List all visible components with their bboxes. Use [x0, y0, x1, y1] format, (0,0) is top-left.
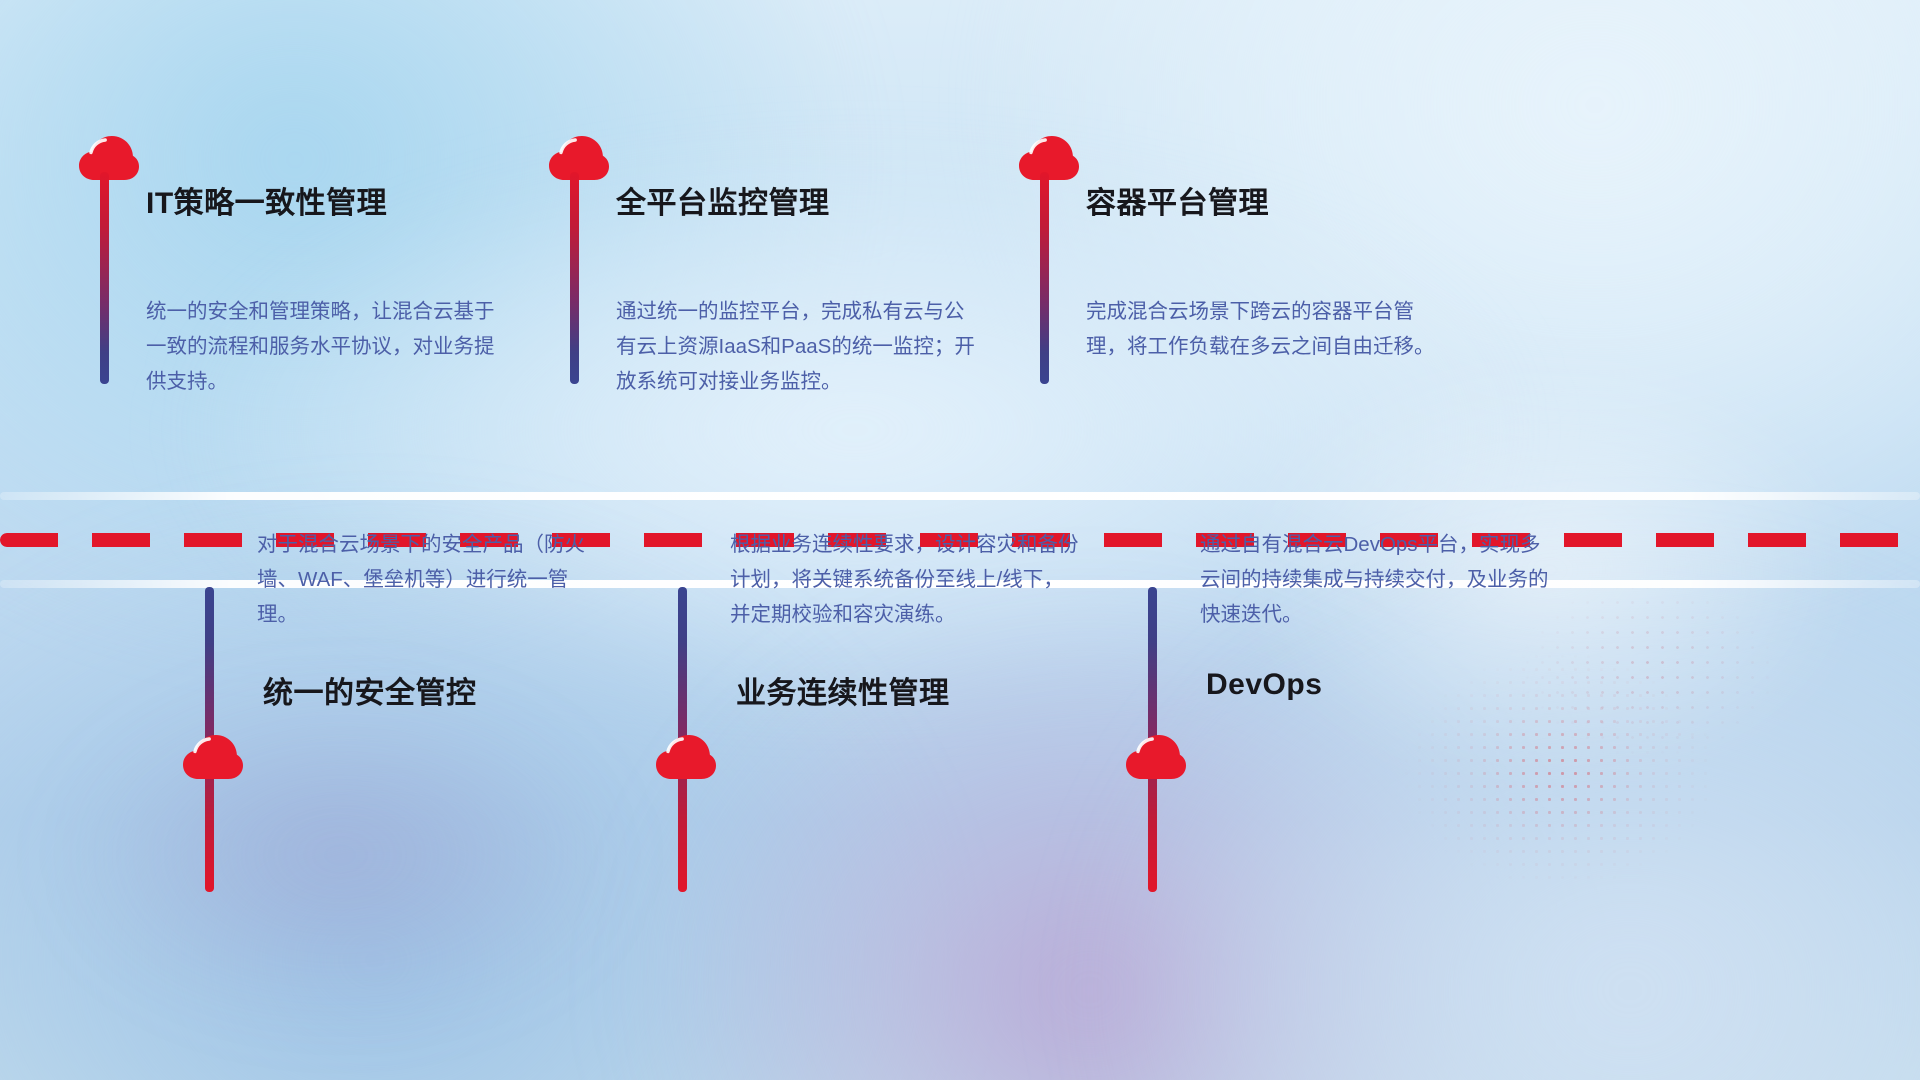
feature-heading: DevOps — [1206, 668, 1322, 702]
feature-body: 通过统一的监控平台，完成私有云与公有云上资源IaaS和PaaS的统一监控；开放系… — [616, 294, 984, 399]
feature-heading: 业务连续性管理 — [736, 668, 950, 712]
feature-card-it-policy-consistency[interactable]: IT策略一致性管理 统一的安全和管理策略，让混合云基于一致的流程和服务水平协议，… — [78, 0, 598, 492]
top-feature-row: IT策略一致性管理 统一的安全和管理策略，让混合云基于一致的流程和服务水平协议，… — [0, 0, 1920, 492]
stem-connector — [570, 172, 579, 384]
feature-body: 完成混合云场景下跨云的容器平台管理，将工作负载在多云之间自由迁移。 — [1086, 294, 1452, 364]
divider-rule-top — [0, 492, 1920, 500]
feature-heading: IT策略一致性管理 — [146, 178, 387, 222]
feature-heading: 统一的安全管控 — [263, 668, 477, 712]
bottom-feature-row: 对于混合云场景下的安全产品（防火墙、WAF、堡垒机等）进行统一管理。 统一的安全… — [0, 588, 1920, 1080]
cloud-icon — [78, 135, 140, 181]
feature-card-unified-security-control[interactable]: 对于混合云场景下的安全产品（防火墙、WAF、堡垒机等）进行统一管理。 统一的安全… — [205, 588, 725, 1080]
feature-card-devops[interactable]: 通过自有混合云DevOps平台，实现多云间的持续集成与持续交付，及业务的快速迭代… — [1148, 588, 1668, 1080]
cloud-icon — [182, 734, 244, 780]
feature-body: 对于混合云场景下的安全产品（防火墙、WAF、堡垒机等）进行统一管理。 — [257, 527, 609, 632]
feature-card-container-platform-management[interactable]: 容器平台管理 完成混合云场景下跨云的容器平台管理，将工作负载在多云之间自由迁移。 — [1018, 0, 1538, 492]
feature-heading: 容器平台管理 — [1086, 178, 1269, 222]
cloud-icon — [1018, 135, 1080, 181]
stem-connector — [1040, 172, 1049, 384]
feature-card-business-continuity-management[interactable]: 根据业务连续性要求，设计容灾和备份计划，将关键系统备份至线上/线下，并定期校验和… — [678, 588, 1198, 1080]
cloud-icon — [1125, 734, 1187, 780]
stem-connector — [100, 172, 109, 384]
feature-body: 通过自有混合云DevOps平台，实现多云间的持续集成与持续交付，及业务的快速迭代… — [1200, 527, 1554, 632]
feature-card-full-platform-monitoring[interactable]: 全平台监控管理 通过统一的监控平台，完成私有云与公有云上资源IaaS和PaaS的… — [548, 0, 1068, 492]
feature-body: 根据业务连续性要求，设计容灾和备份计划，将关键系统备份至线上/线下，并定期校验和… — [730, 527, 1084, 632]
cloud-icon — [655, 734, 717, 780]
feature-body: 统一的安全和管理策略，让混合云基于一致的流程和服务水平协议，对业务提供支持。 — [146, 294, 498, 399]
feature-heading: 全平台监控管理 — [616, 178, 830, 222]
cloud-icon — [548, 135, 610, 181]
